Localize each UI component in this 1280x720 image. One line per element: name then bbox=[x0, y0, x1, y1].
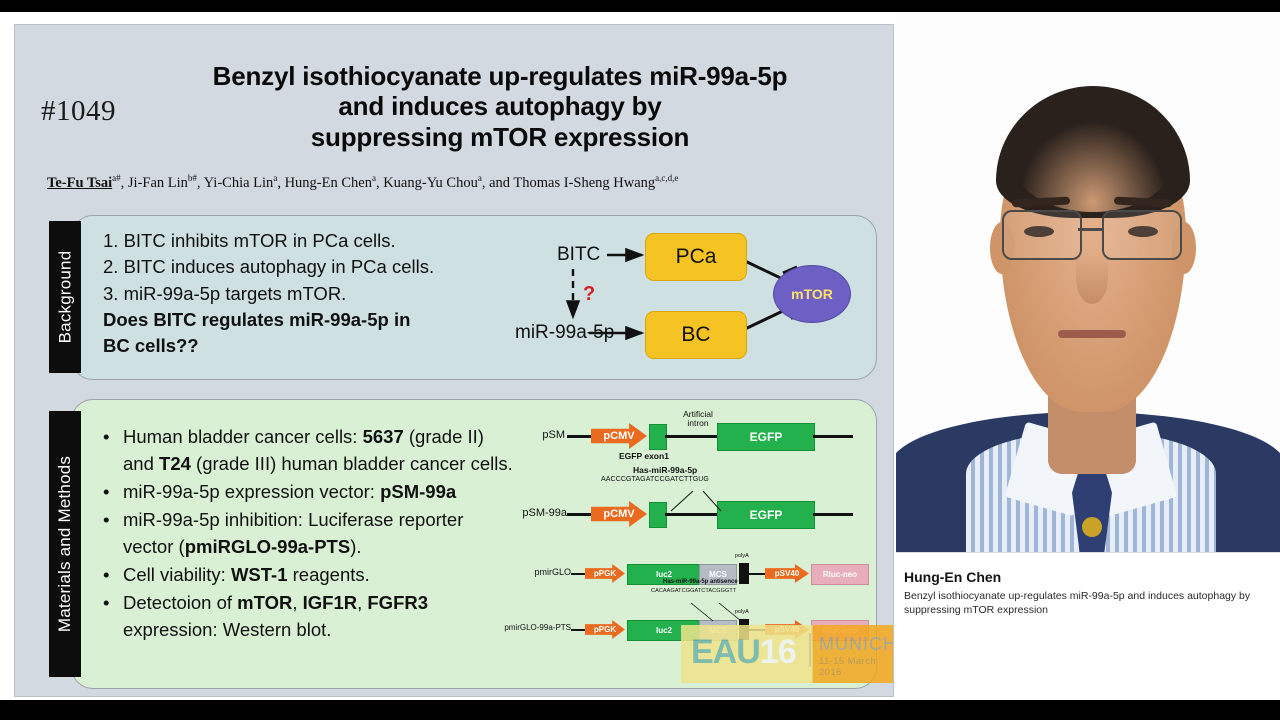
construct-psm99a-name: pSM-99a bbox=[517, 507, 567, 519]
background-flow-diagram: BITC miR-99a-5p ? PCa BC mTOR bbox=[515, 221, 871, 373]
title-line-3: suppressing mTOR expression bbox=[145, 122, 855, 152]
materials-bullet-3: miR-99a-5p inhibition: Luciferase report… bbox=[123, 506, 518, 560]
construct-psm99a-promoter: pCMV bbox=[591, 501, 647, 527]
construct-pts-leaders bbox=[679, 603, 769, 623]
eau-logo-dates: 11-15 March 2016 bbox=[819, 656, 893, 678]
letterbox-top-bar bbox=[0, 0, 1280, 12]
background-points: 1. BITC inhibits mTOR in PCa cells. 2. B… bbox=[103, 228, 503, 359]
background-point-2: 2. BITC induces autophagy in PCa cells. bbox=[103, 254, 503, 280]
flow-node-bc: BC bbox=[645, 311, 747, 359]
letterbox-bottom-bar bbox=[0, 700, 1280, 720]
portrait-glasses-right-lens bbox=[1102, 210, 1182, 260]
eau-logo: EAU16 MUNICH 11-15 March 2016 bbox=[681, 625, 893, 683]
author-2: , Ji-Fan Lin bbox=[121, 175, 188, 191]
presentation-slide: #1049 Benzyl isothiocyanate up-regulates… bbox=[14, 24, 894, 697]
eau-logo-city: MUNICH bbox=[819, 634, 893, 655]
screen: #1049 Benzyl isothiocyanate up-regulates… bbox=[0, 0, 1280, 720]
portrait-mouth bbox=[1058, 330, 1126, 338]
flow-question-marker: ? bbox=[583, 283, 595, 306]
author-list: Te-Fu Tsaia#, Ji-Fan Linb#, Yi-Chia Lina… bbox=[47, 173, 877, 192]
eau-logo-main: EAU16 bbox=[691, 633, 796, 672]
construct-pmirglo-rlucneo: Rluc-neo bbox=[811, 564, 869, 585]
background-question-line-1: Does BITC regulates miR-99a-5p in bbox=[103, 307, 503, 333]
lead-author-affiliation: a# bbox=[112, 173, 121, 183]
materials-tab-label: Materials and Methods bbox=[55, 456, 75, 632]
portrait-nose bbox=[1076, 252, 1108, 304]
construct-pmirglo-polya-label: polyA bbox=[735, 553, 749, 559]
materials-bullet-4: Cell viability: WST-1 reagents. bbox=[123, 561, 518, 588]
talk-title: Benzyl isothiocyanate up-regulates miR-9… bbox=[904, 590, 1264, 618]
materials-bullet-2: miR-99a-5p expression vector: pSM-99a bbox=[123, 478, 518, 505]
portrait-glasses-left-lens bbox=[1002, 210, 1082, 260]
eau-logo-divider bbox=[809, 633, 811, 667]
materials-bullet-5: Detectoion of mTOR, IGF1R, FGFR3 express… bbox=[123, 589, 518, 643]
portrait-tie-emblem bbox=[1082, 517, 1102, 537]
construct-pts-insert-label: Has-miR-99a-5p antisence x 3 bbox=[663, 579, 748, 585]
author-6: , and Thomas I-Sheng Hwang bbox=[482, 175, 655, 191]
speaker-caption: Hung-En Chen Benzyl isothiocyanate up-re… bbox=[896, 552, 1280, 700]
materials-bullet-1: Human bladder cancer cells: 5637 (grade … bbox=[123, 423, 518, 477]
materials-bullets: Human bladder cancer cells: 5637 (grade … bbox=[103, 423, 518, 644]
background-point-3: 3. miR-99a-5p targets mTOR. bbox=[103, 281, 503, 307]
speaker-name: Hung-En Chen bbox=[904, 569, 1001, 585]
flow-node-pca: PCa bbox=[645, 233, 747, 281]
slide-pane: #1049 Benzyl isothiocyanate up-regulates… bbox=[0, 12, 896, 700]
portrait-tie bbox=[1072, 464, 1112, 552]
construct-psm: pSM pCMV EGFP Artificial intron EGFP exo… bbox=[523, 417, 873, 457]
construct-psm99a-leaders bbox=[663, 491, 753, 513]
eau-logo-year: 16 bbox=[760, 633, 796, 671]
construct-pts-insert-sequence: CACAAGATCGGATCTACGGGTT bbox=[651, 588, 736, 594]
construct-pmirglo-promoter: pPGK bbox=[585, 564, 625, 583]
flow-label-mir: miR-99a-5p bbox=[515, 322, 614, 344]
author-4: , Hung-En Chen bbox=[277, 175, 372, 191]
flow-node-mtor: mTOR bbox=[773, 265, 851, 323]
eau-logo-text: EAU bbox=[691, 633, 760, 671]
flow-label-bitc: BITC bbox=[557, 244, 600, 266]
background-question-line-2: BC cells?? bbox=[103, 333, 503, 359]
title-line-2: and induces autophagy by bbox=[145, 91, 855, 121]
caption-divider bbox=[896, 552, 1280, 553]
author-3: , Yi-Chia Lin bbox=[197, 175, 273, 191]
construct-psm-name: pSM bbox=[523, 429, 565, 441]
background-tab-label: Background bbox=[55, 251, 75, 344]
construct-pts-promoter: pPGK bbox=[585, 620, 625, 639]
materials-section-tab: Materials and Methods bbox=[49, 411, 81, 677]
lead-author: Te-Fu Tsai bbox=[47, 175, 112, 191]
construct-psm-promoter: pCMV bbox=[591, 423, 647, 449]
speaker-video-pane[interactable]: Hung-En Chen Benzyl isothiocyanate up-re… bbox=[896, 12, 1280, 700]
construct-pmirglo-psv40: pSV40 bbox=[765, 564, 809, 583]
page-title: Benzyl isothiocyanate up-regulates miR-9… bbox=[145, 61, 855, 152]
title-line-1: Benzyl isothiocyanate up-regulates miR-9… bbox=[145, 61, 855, 91]
portrait-glasses-bridge bbox=[1078, 228, 1104, 231]
speaker-portrait bbox=[896, 12, 1280, 552]
construct-pmirglo-name: pmirGLO bbox=[513, 567, 571, 577]
construct-psm99a-insert-label: Has-miR-99a-5p bbox=[633, 465, 697, 475]
background-point-1: 1. BITC inhibits mTOR in PCa cells. bbox=[103, 228, 503, 254]
author-2-affiliation: b# bbox=[188, 173, 197, 183]
author-6-affiliation: a,c,d,e bbox=[655, 173, 678, 183]
construct-psm99a: pSM-99a pCMV EGFP Has-miR-99a-5p AACCCGT… bbox=[523, 495, 873, 535]
author-5: , Kuang-Yu Chou bbox=[376, 175, 478, 191]
construct-psm-intron-label-2: intron bbox=[663, 418, 733, 428]
construct-pmirglo-99a-pts-name: pmirGLO-99a-PTS bbox=[475, 623, 571, 632]
construct-psm-exon-label: EGFP exon1 bbox=[619, 451, 669, 461]
background-section-tab: Background bbox=[49, 221, 81, 373]
construct-psm99a-insert-sequence: AACCCGTAGATCCGATCTTGUG bbox=[601, 476, 709, 483]
